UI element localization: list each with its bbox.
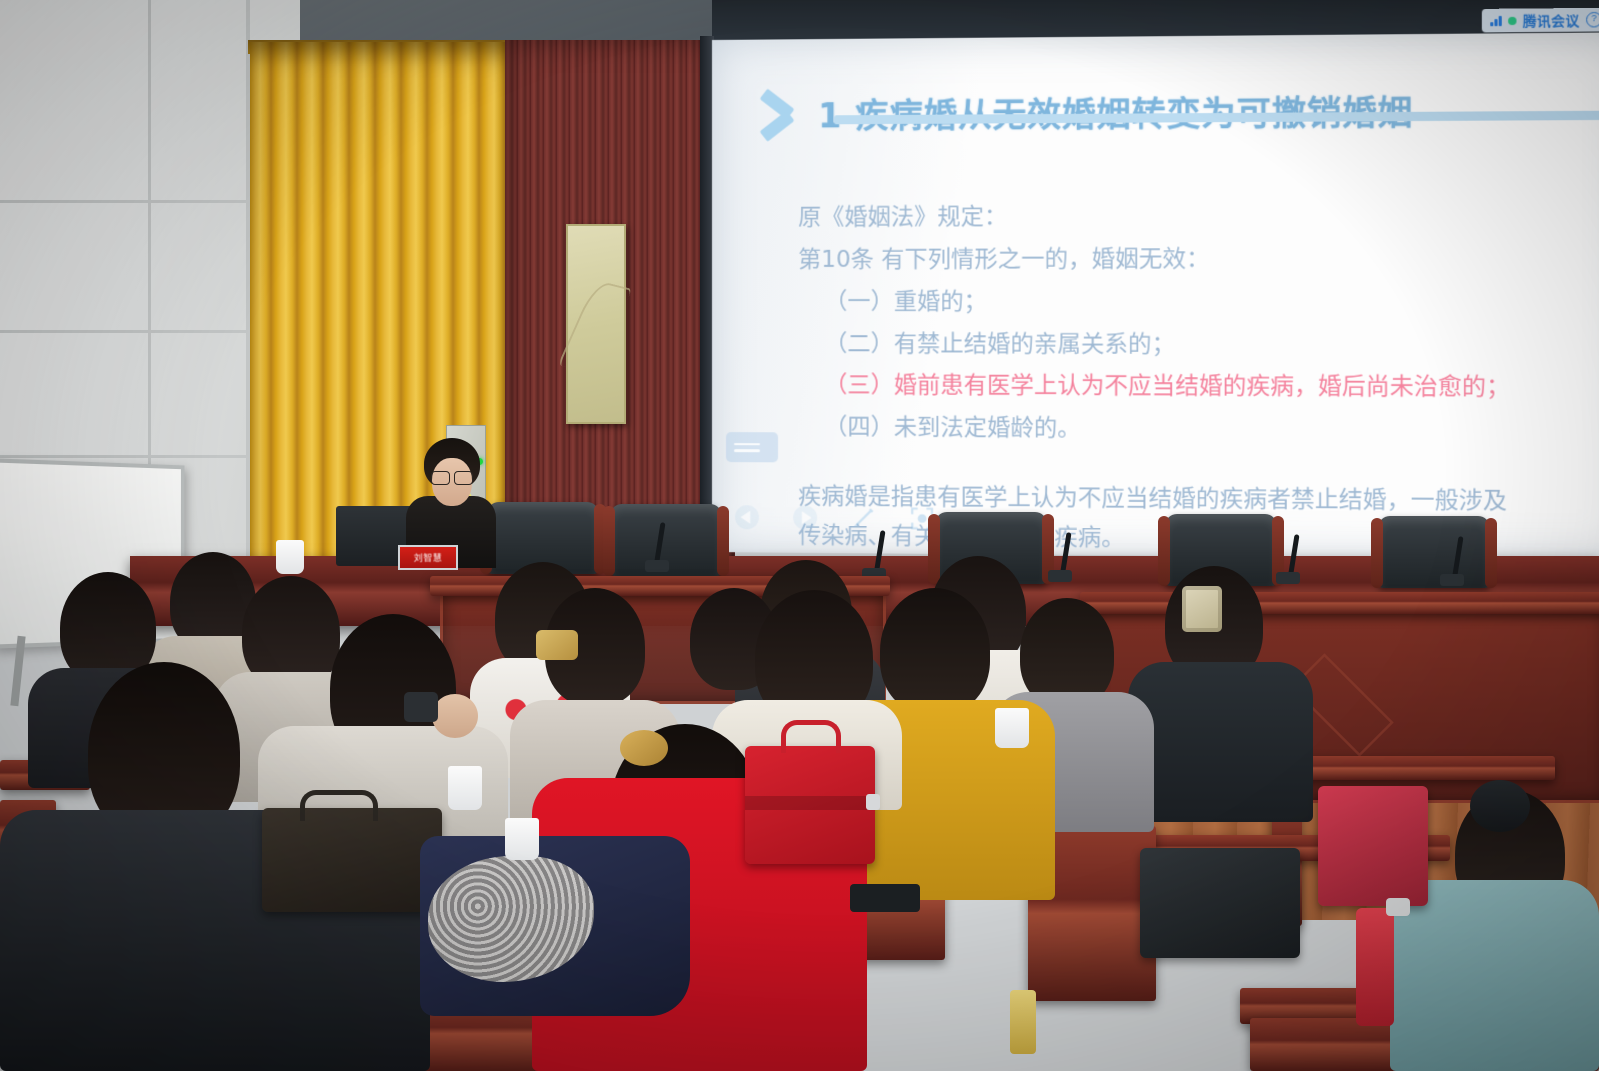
black-jacket-pile bbox=[1140, 848, 1300, 958]
slide-line-highlighted: （三）婚前患有医学上认为不应当结婚的疾病，婚后尚未治愈的； bbox=[824, 366, 1599, 411]
tote-handle bbox=[300, 790, 378, 821]
speaker-nameplate-text: 刘智慧 bbox=[414, 551, 443, 564]
mic-base bbox=[1276, 572, 1300, 584]
paper-cup bbox=[505, 818, 539, 860]
handbag-handle bbox=[781, 720, 841, 753]
red-handbag bbox=[745, 746, 875, 864]
beverage-bottle bbox=[1010, 990, 1036, 1054]
mic-base bbox=[1440, 574, 1464, 586]
pen-annotation-icon[interactable] bbox=[850, 505, 876, 531]
red-thermos bbox=[1356, 908, 1394, 1026]
eyeglasses-icon bbox=[431, 471, 473, 483]
audience-bench bbox=[1305, 756, 1555, 780]
attendee-head bbox=[880, 588, 990, 714]
wall-seam-1 bbox=[148, 0, 151, 470]
mic-base bbox=[645, 560, 669, 572]
thermos-cap bbox=[1386, 898, 1410, 916]
meeting-app-label: 腾讯会议 bbox=[1523, 10, 1580, 30]
handbag-clasp bbox=[866, 794, 880, 810]
slide-body-list: 原《婚姻法》规定： 第10条 有下列情形之一的，婚姻无效： （一）重婚的； （二… bbox=[798, 195, 1599, 454]
slide-line: 原《婚姻法》规定： bbox=[798, 195, 1599, 240]
tencent-meeting-indicator[interactable]: 腾讯会议 ? bbox=[1482, 8, 1599, 33]
slide-title: 1 疾病婚从无效婚姻转变为可撤销婚姻 bbox=[818, 85, 1413, 137]
held-phone bbox=[404, 692, 438, 722]
recording-status-dot bbox=[1508, 16, 1516, 24]
paper-cup bbox=[276, 540, 304, 574]
paper-cup bbox=[448, 766, 482, 810]
attendee-torso-teal bbox=[1390, 880, 1599, 1071]
slide-content: 1 疾病婚从无效婚姻转变为可撤销婚姻 原《婚姻法》规定： 第10条 有下列情形之… bbox=[712, 32, 1599, 559]
audience-desk-top bbox=[1080, 592, 1599, 614]
pink-backpack bbox=[1318, 786, 1428, 906]
wall-seam-2 bbox=[0, 200, 250, 203]
decorative-scroll bbox=[566, 224, 626, 424]
hair-clip bbox=[1182, 586, 1222, 632]
projection-screen[interactable]: 腾讯会议 ? 1 疾病婚从无效婚姻转变为可撤销婚姻 原《婚姻法》规定： 第10条… bbox=[712, 32, 1599, 559]
slide-line: （二）有禁止结婚的亲属关系的； bbox=[824, 324, 1599, 368]
slide-menu-icon[interactable] bbox=[726, 432, 778, 462]
attendee-head bbox=[1470, 780, 1530, 832]
chevron-right-icon bbox=[760, 85, 804, 141]
smartphone bbox=[850, 884, 920, 912]
wall-seam-3 bbox=[0, 330, 250, 333]
paper-cup bbox=[995, 708, 1029, 748]
slide-line: （四）未到法定婚龄的。 bbox=[824, 408, 1599, 454]
black-tote-bag bbox=[262, 808, 442, 912]
hair-clip bbox=[536, 630, 578, 660]
attendee-torso bbox=[1128, 662, 1313, 822]
attendee-hand bbox=[432, 694, 478, 738]
next-slide-icon[interactable] bbox=[792, 505, 818, 531]
signal-bars-icon bbox=[1491, 15, 1502, 26]
handbag-flap bbox=[745, 796, 875, 810]
help-circle-icon[interactable]: ? bbox=[1586, 12, 1599, 28]
lecture-hall-photo: 腾讯会议 ? 1 疾病婚从无效婚姻转变为可撤销婚姻 原《婚姻法》规定： 第10条… bbox=[0, 0, 1599, 1071]
previous-slide-icon[interactable] bbox=[734, 504, 760, 530]
wall-seam-4 bbox=[0, 455, 250, 458]
speaker-nameplate: 刘智慧 bbox=[398, 545, 458, 570]
dais-chair bbox=[1378, 516, 1490, 588]
slide-line: （一）重婚的； bbox=[824, 281, 1599, 324]
hair-tie bbox=[620, 730, 668, 766]
mic-base bbox=[1048, 570, 1072, 582]
slide-line: 第10条 有下列情形之一的，婚姻无效： bbox=[798, 238, 1599, 282]
